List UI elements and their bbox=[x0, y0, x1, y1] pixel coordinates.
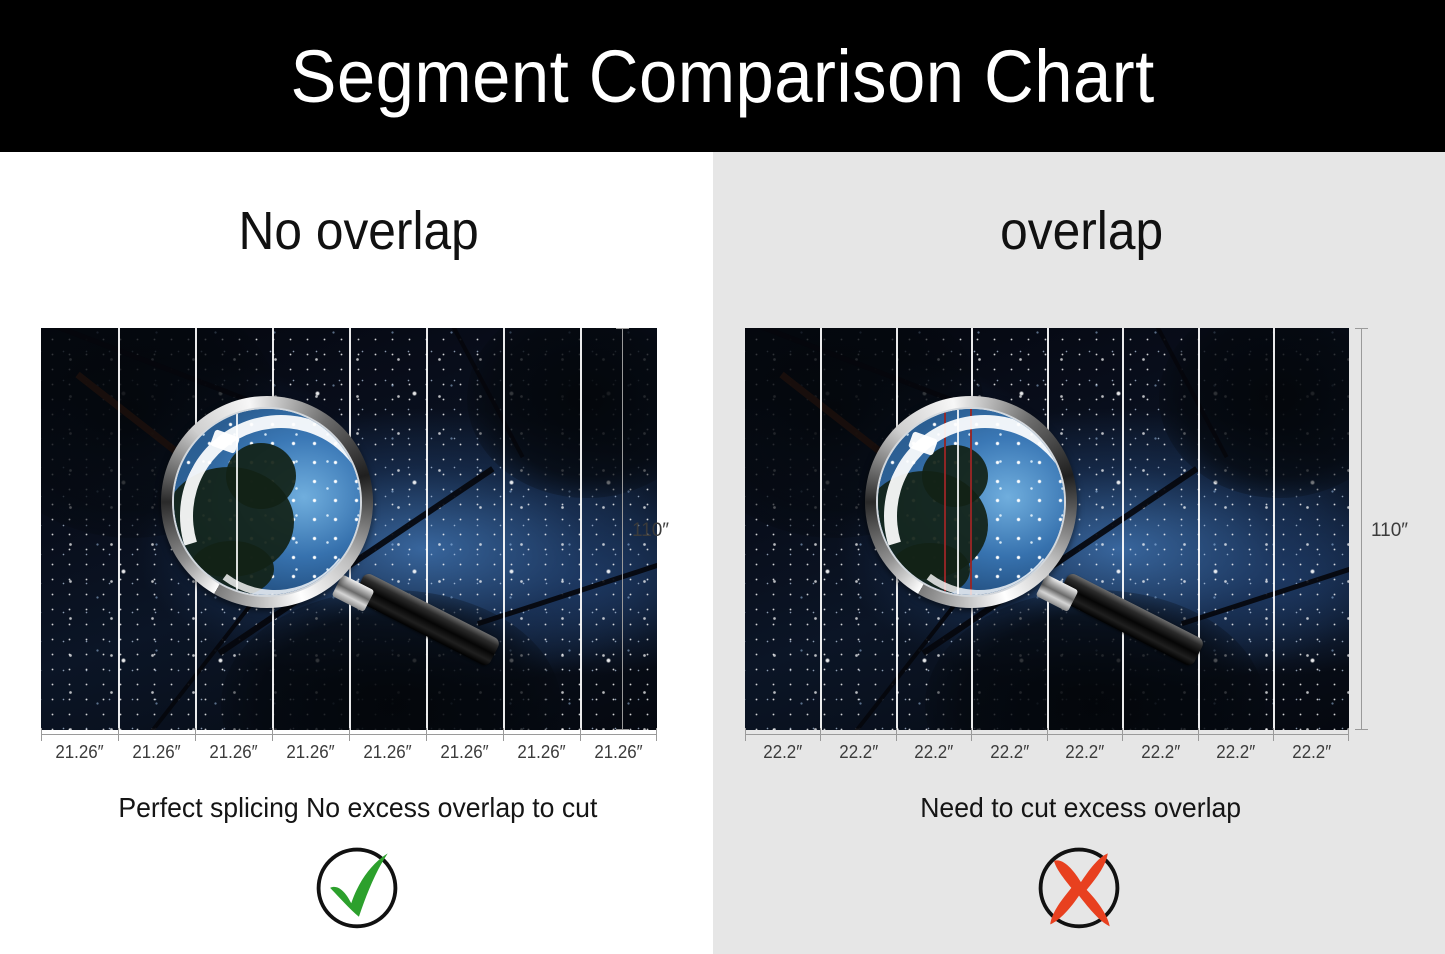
segment-divider bbox=[426, 328, 428, 730]
segment-label: 21.26″ bbox=[428, 742, 500, 763]
segment-dimension-line-overlap: 22.2″ 22.2″ 22.2″ 22.2″ 22.2″ 22.2″ 22.2… bbox=[745, 734, 1349, 735]
height-dimension-line-no-overlap bbox=[622, 328, 623, 730]
mural-preview-no-overlap bbox=[41, 328, 657, 730]
panel-no-overlap: No overlap bbox=[0, 152, 713, 954]
height-label-no-overlap: 110″ bbox=[632, 520, 669, 542]
segment-label: 21.26″ bbox=[120, 742, 192, 763]
segment-dimension-line-no-overlap: 21.26″ 21.26″ 21.26″ 21.26″ 21.26″ 21.26… bbox=[41, 734, 657, 735]
segment-divider bbox=[896, 328, 898, 730]
segment-divider-lines-overlap bbox=[745, 328, 1349, 730]
segment-label: 21.26″ bbox=[197, 742, 269, 763]
check-icon bbox=[309, 838, 405, 934]
segment-labels-overlap: 22.2″ 22.2″ 22.2″ 22.2″ 22.2″ 22.2″ 22.2… bbox=[745, 742, 1349, 763]
segment-label: 22.2″ bbox=[1200, 742, 1271, 763]
segment-divider-lines-no-overlap bbox=[41, 328, 657, 730]
segment-label: 21.26″ bbox=[351, 742, 423, 763]
segment-divider bbox=[349, 328, 351, 730]
segment-label: 22.2″ bbox=[1049, 742, 1120, 763]
segment-divider bbox=[118, 328, 120, 730]
segment-divider bbox=[1047, 328, 1049, 730]
segment-label: 22.2″ bbox=[898, 742, 969, 763]
segment-divider bbox=[1273, 328, 1275, 730]
dimension-cap-bottom bbox=[1355, 729, 1368, 730]
cross-icon bbox=[1031, 838, 1127, 934]
dimension-cap-top bbox=[1355, 328, 1368, 329]
height-label-overlap: 110″ bbox=[1371, 520, 1408, 542]
comparison-panels: No overlap bbox=[0, 152, 1445, 954]
segment-label: 21.26″ bbox=[274, 742, 346, 763]
segment-label: 22.2″ bbox=[823, 742, 894, 763]
page-title: Segment Comparison Chart bbox=[290, 34, 1154, 119]
segment-label: 22.2″ bbox=[1125, 742, 1196, 763]
caption-overlap: Need to cut excess overlap bbox=[733, 792, 1445, 824]
segment-divider bbox=[272, 328, 274, 730]
panel-heading-overlap: overlap bbox=[745, 200, 1445, 262]
verdict-overlap bbox=[713, 838, 1445, 934]
segment-divider bbox=[580, 328, 582, 730]
segment-divider bbox=[1198, 328, 1200, 730]
caption-no-overlap: Perfect splicing No excess overlap to cu… bbox=[19, 792, 748, 824]
segment-divider bbox=[820, 328, 822, 730]
mural-preview-overlap bbox=[745, 328, 1349, 730]
segment-label: 22.2″ bbox=[1276, 742, 1347, 763]
panel-heading-no-overlap: No overlap bbox=[31, 200, 737, 262]
segment-labels-no-overlap: 21.26″ 21.26″ 21.26″ 21.26″ 21.26″ 21.26… bbox=[41, 742, 657, 763]
segment-label: 21.26″ bbox=[505, 742, 577, 763]
segment-label: 22.2″ bbox=[974, 742, 1045, 763]
segment-divider bbox=[503, 328, 505, 730]
dimension-cap-top bbox=[616, 328, 629, 329]
segment-divider bbox=[971, 328, 973, 730]
segment-dimension-ticks bbox=[41, 728, 657, 741]
verdict-no-overlap bbox=[0, 838, 767, 934]
height-dimension-line-overlap bbox=[1361, 328, 1362, 730]
segment-comparison-infographic: Segment Comparison Chart No overlap bbox=[0, 0, 1445, 954]
segment-divider bbox=[1122, 328, 1124, 730]
title-banner: Segment Comparison Chart bbox=[0, 0, 1445, 152]
segment-label: 22.2″ bbox=[747, 742, 818, 763]
panel-overlap: overlap bbox=[713, 152, 1445, 954]
segment-label: 21.26″ bbox=[43, 742, 115, 763]
segment-divider bbox=[195, 328, 197, 730]
segment-dimension-ticks bbox=[745, 728, 1349, 741]
segment-label: 21.26″ bbox=[582, 742, 654, 763]
